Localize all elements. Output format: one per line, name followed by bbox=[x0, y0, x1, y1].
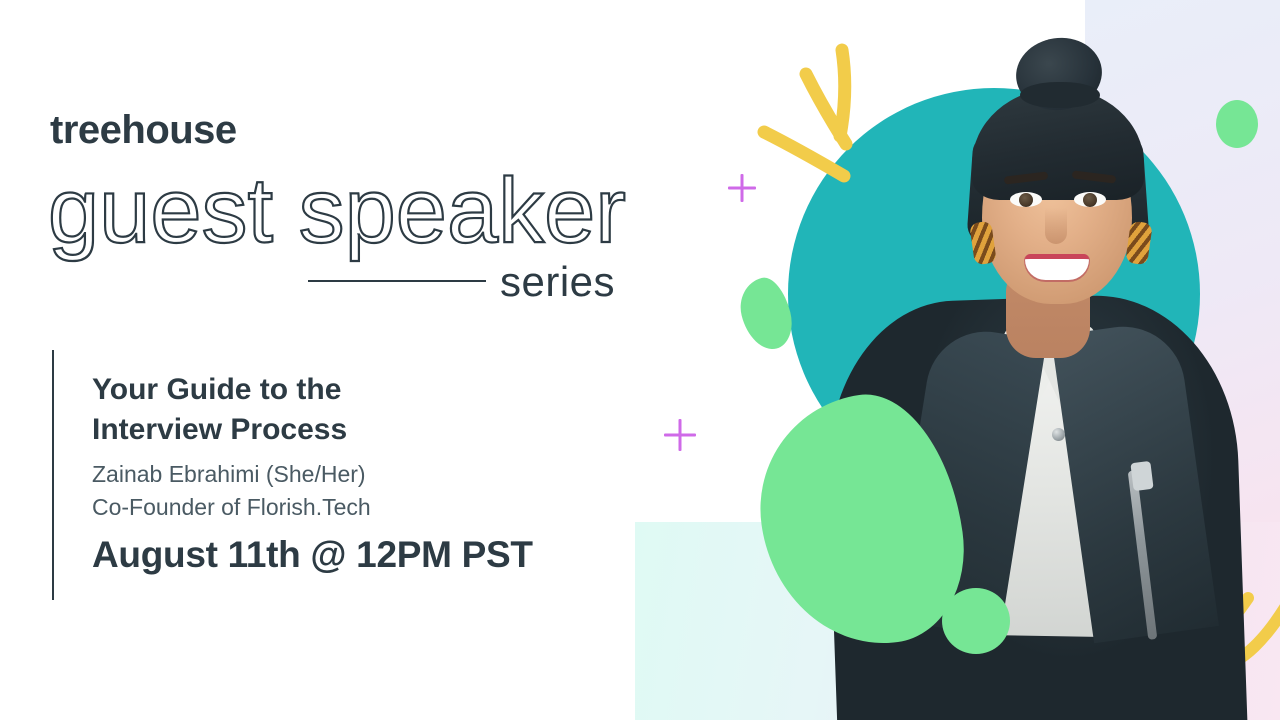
jacket-zipper-pull bbox=[1130, 461, 1153, 491]
speaker-name: Zainab Ebrahimi (She/Her) bbox=[92, 461, 366, 488]
event-datetime: August 11th @ 12PM PST bbox=[92, 534, 533, 576]
headline-sub: series bbox=[500, 258, 615, 306]
promo-graphic: treehouse guest speaker series Your Guid… bbox=[0, 0, 1280, 720]
eye-right bbox=[1074, 192, 1106, 207]
mouth bbox=[1025, 254, 1089, 280]
talk-title: Your Guide to the Interview Process bbox=[92, 370, 612, 449]
magenta-plus-icon bbox=[664, 419, 696, 451]
talk-title-line-2: Interview Process bbox=[92, 410, 612, 450]
jacket-stud bbox=[1052, 428, 1065, 441]
svg-text:guest speaker: guest speaker bbox=[48, 160, 626, 262]
vertical-divider bbox=[52, 350, 54, 600]
series-rule bbox=[308, 280, 486, 282]
hair-bun-wrap bbox=[1020, 82, 1100, 108]
earring-right bbox=[1125, 221, 1153, 266]
speaker-role: Co-Founder of Florish.Tech bbox=[92, 494, 371, 521]
nose bbox=[1045, 208, 1067, 244]
talk-title-line-1: Your Guide to the bbox=[92, 370, 612, 410]
brand-name: treehouse bbox=[50, 108, 237, 153]
magenta-plus-icon bbox=[728, 174, 756, 202]
headline-main: guest speaker bbox=[44, 158, 664, 268]
green-dot-bottom bbox=[942, 588, 1010, 654]
eye-left bbox=[1010, 192, 1042, 207]
